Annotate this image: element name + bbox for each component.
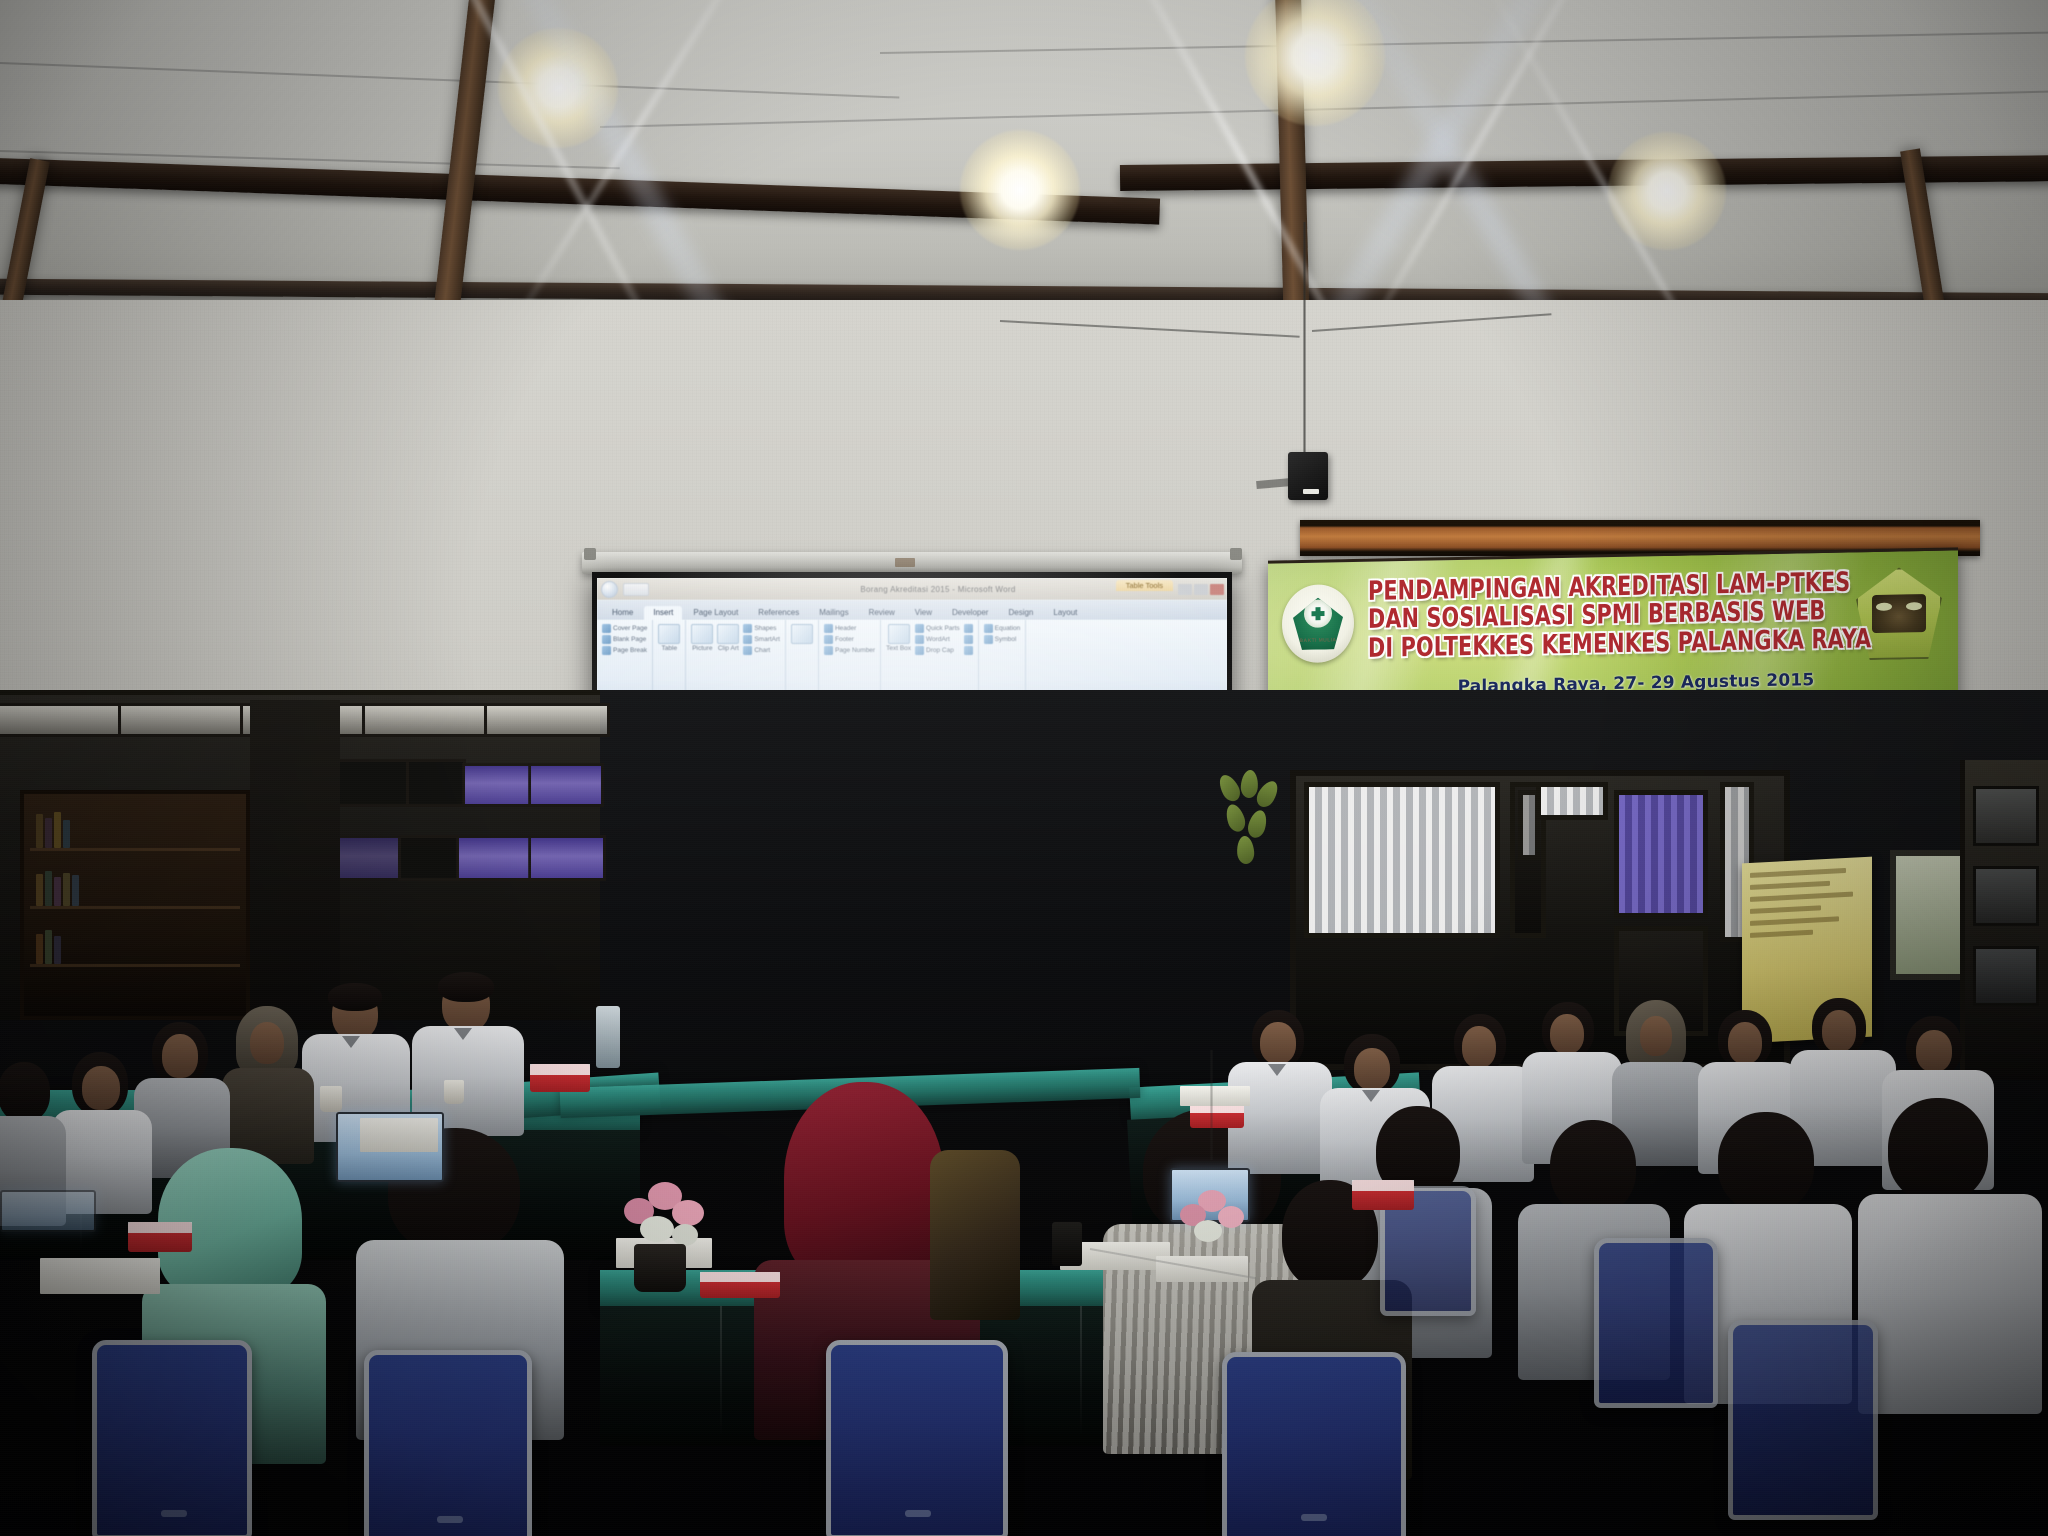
button-page-break[interactable]: Page Break: [602, 646, 647, 655]
button-drop-cap[interactable]: Drop Cap: [915, 646, 960, 655]
cross-emblem-icon: [1312, 607, 1325, 620]
flower-arrangement: [1180, 1190, 1250, 1250]
button-quick-parts[interactable]: Quick Parts: [915, 624, 960, 633]
screen-bracket-right: [1230, 548, 1242, 560]
button-wordart[interactable]: WordArt: [915, 635, 960, 644]
ribbon-tab-strip[interactable]: Home Insert Page Layout References Maili…: [597, 600, 1227, 620]
banner-headline-block: PENDAMPINGAN AKREDITASI LAM-PTKES DAN SO…: [1368, 565, 1844, 699]
quick-access-toolbar[interactable]: [623, 583, 649, 596]
footer-icon: [824, 635, 833, 644]
paper-document[interactable]: [1180, 1086, 1250, 1106]
institution-logo-left: BAKTI MULIA: [1282, 584, 1354, 663]
button-hyperlink[interactable]: [791, 624, 813, 644]
wordart-icon: [915, 635, 924, 644]
cover-page-icon: [602, 624, 611, 633]
ceiling-lamp: [1608, 132, 1726, 250]
bookcase: [20, 790, 250, 1020]
chair[interactable]: [92, 1340, 252, 1536]
button-smartart[interactable]: SmartArt: [743, 635, 780, 644]
object-button[interactable]: [964, 646, 973, 655]
blank-page-icon: [602, 635, 611, 644]
button-chart[interactable]: Chart: [743, 646, 780, 655]
display-cabinet: [1960, 760, 2048, 1080]
chair[interactable]: [364, 1350, 532, 1536]
button-text-box[interactable]: Text Box: [886, 624, 911, 652]
tab-references[interactable]: References: [749, 606, 808, 620]
chair[interactable]: [1594, 1238, 1718, 1408]
contextual-tab-label: Table Tools: [1116, 580, 1173, 591]
tab-home[interactable]: Home: [603, 606, 642, 620]
screen-bracket-left: [584, 548, 596, 560]
button-shapes[interactable]: Shapes: [743, 624, 780, 633]
microphone-base: [1052, 1222, 1082, 1266]
flower-vase: [634, 1244, 686, 1292]
clip-art-icon: [717, 624, 739, 644]
button-picture[interactable]: Picture: [691, 624, 713, 652]
button-clip-art[interactable]: Clip Art: [717, 624, 739, 652]
header-icon: [824, 624, 833, 633]
hyperlink-icon: [791, 624, 813, 644]
laptop[interactable]: [0, 1190, 96, 1232]
page-number-icon: [824, 646, 833, 655]
tab-developer[interactable]: Developer: [943, 606, 997, 620]
drinking-cup: [320, 1086, 342, 1112]
speaker-indicator: [1303, 489, 1319, 494]
minimize-icon[interactable]: [1178, 584, 1192, 595]
quick-parts-icon: [915, 624, 924, 633]
chart-icon: [743, 646, 752, 655]
drop-cap-icon: [915, 646, 924, 655]
screen-brand-logo: [895, 558, 915, 567]
table-icon: [658, 624, 680, 644]
button-blank-page[interactable]: Blank Page: [602, 635, 647, 644]
button-page-number[interactable]: Page Number: [824, 646, 875, 655]
logo-left-caption: BAKTI MULIA: [1293, 637, 1343, 644]
chair[interactable]: [1222, 1352, 1406, 1536]
snack-box: [1352, 1180, 1414, 1210]
window-pane-purple-curtain: [1614, 790, 1708, 918]
tab-insert[interactable]: Insert: [644, 606, 682, 620]
symbol-icon: [984, 635, 993, 644]
page-break-icon: [602, 646, 611, 655]
ceiling-lamp: [960, 130, 1080, 250]
tab-mailings[interactable]: Mailings: [810, 606, 857, 620]
snack-box: [530, 1064, 590, 1092]
word-title-bar: Borang Akreditasi 2015 - Microsoft Word …: [597, 578, 1227, 600]
paper-document[interactable]: [360, 1118, 438, 1152]
ceiling-lamp: [498, 28, 618, 148]
tugu-emblem-icon: [1872, 594, 1926, 633]
signature-line-icon: [964, 624, 973, 633]
button-header[interactable]: Header: [824, 624, 875, 633]
button-cover-page[interactable]: Cover Page: [602, 624, 647, 633]
chair[interactable]: [826, 1340, 1008, 1536]
date-time-icon: [964, 635, 973, 644]
potted-plant: [1215, 770, 1285, 890]
paper-document[interactable]: [40, 1258, 160, 1294]
doorway-with-windows: [1290, 770, 1790, 1070]
maximize-icon[interactable]: [1194, 584, 1208, 595]
snack-tray: [700, 1272, 780, 1298]
button-equation[interactable]: Equation: [984, 624, 1021, 633]
button-table[interactable]: Table: [658, 624, 680, 652]
shapes-icon: [743, 624, 752, 633]
equation-icon: [984, 624, 993, 633]
button-footer[interactable]: Footer: [824, 635, 875, 644]
close-icon[interactable]: [1210, 584, 1224, 595]
office-orb-icon[interactable]: [601, 581, 618, 598]
window-pane-white-curtain: [1304, 782, 1500, 938]
tab-review[interactable]: Review: [860, 606, 904, 620]
conference-room-scene: Borang Akreditasi 2015 - Microsoft Word …: [0, 0, 2048, 1536]
tab-design[interactable]: Design: [999, 606, 1042, 620]
picture-icon: [691, 624, 713, 644]
snack-box: [1190, 1104, 1244, 1128]
signature-line-button[interactable]: [964, 624, 973, 633]
drinking-cup: [444, 1080, 464, 1104]
smartart-icon: [743, 635, 752, 644]
tab-view[interactable]: View: [906, 606, 941, 620]
tab-layout[interactable]: Layout: [1044, 606, 1086, 620]
object-icon: [964, 646, 973, 655]
transom-pane: [1536, 782, 1608, 820]
text-box-icon: [888, 624, 910, 644]
tab-page-layout[interactable]: Page Layout: [684, 606, 747, 620]
snack-box: [128, 1222, 192, 1252]
chair[interactable]: [1728, 1320, 1878, 1520]
water-bottle: [596, 1006, 620, 1068]
partition-pillar: [250, 700, 340, 1030]
button-symbol[interactable]: Symbol: [984, 635, 1021, 644]
ceiling: [0, 0, 2048, 330]
window-controls[interactable]: [1178, 584, 1224, 595]
date-time-button[interactable]: [964, 635, 973, 644]
